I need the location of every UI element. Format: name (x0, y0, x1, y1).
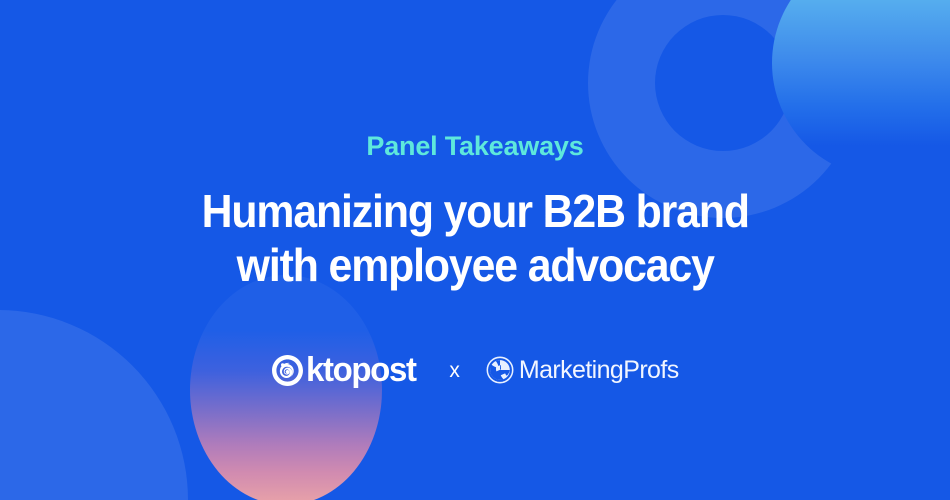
logo-separator: x (449, 360, 460, 381)
oktopost-spiral-icon (271, 354, 304, 387)
oktopost-logo[interactable]: ktopost (271, 353, 419, 387)
marketingprofs-globe-icon (486, 356, 514, 384)
marketingprofs-wordmark: MarketingProfs (519, 358, 679, 383)
logo-lockup: ktopost x MarketingProfs (271, 353, 678, 387)
page-title-line-1: Humanizing your B2B brand (201, 184, 748, 238)
page-title-line-2: with employee advocacy (201, 238, 748, 292)
marketingprofs-logo[interactable]: MarketingProfs (486, 356, 679, 384)
promo-banner: Panel Takeaways Humanizing your B2B bran… (0, 0, 950, 500)
oktopost-wordmark: ktopost (306, 353, 416, 387)
page-title: Humanizing your B2B brand with employee … (201, 184, 748, 293)
banner-content: Panel Takeaways Humanizing your B2B bran… (0, 0, 950, 500)
eyebrow-label: Panel Takeaways (366, 133, 583, 160)
